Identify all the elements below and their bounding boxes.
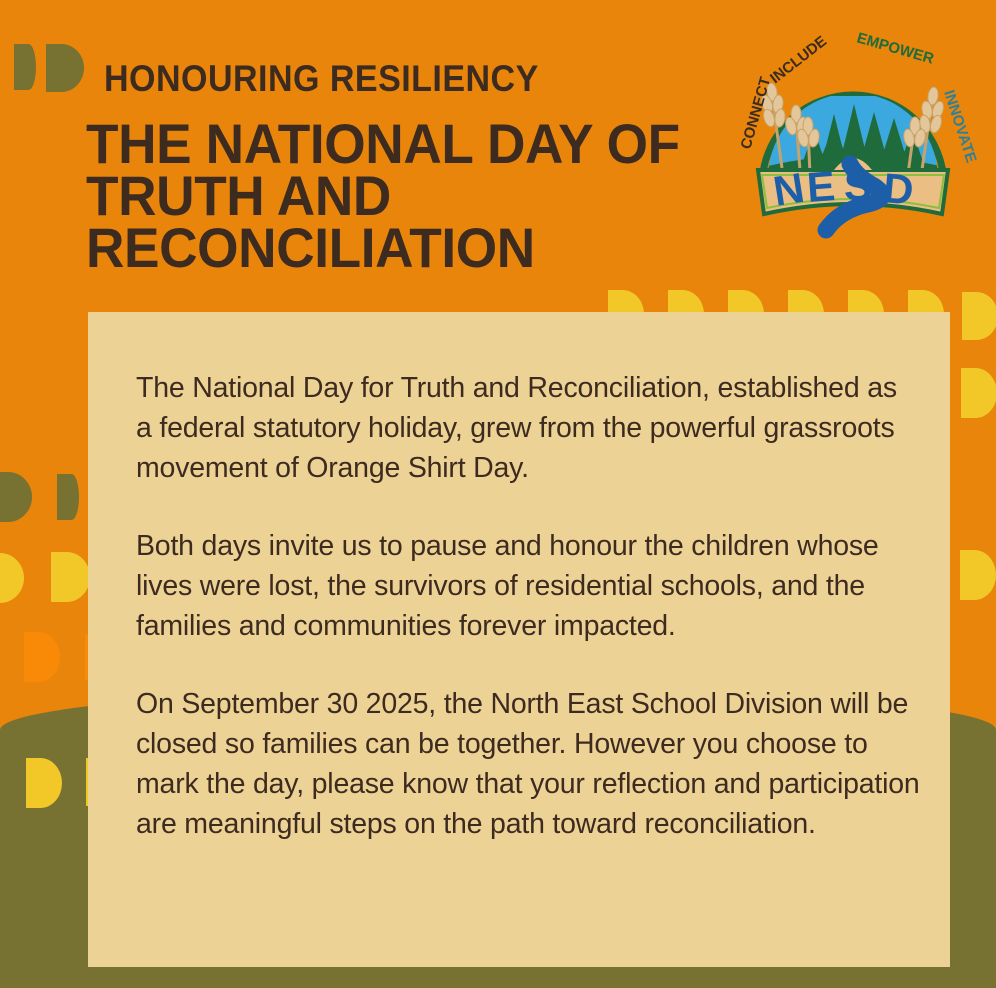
- decorative-shape-yellow-top-7: [962, 292, 996, 340]
- logo-letter-d: D: [881, 164, 915, 213]
- content-card: The National Day for Truth and Reconcili…: [88, 312, 950, 967]
- logo-arc-word-empower: EMPOWER: [855, 30, 936, 68]
- logo-arc-word-include: INCLUDE: [767, 33, 830, 87]
- card-paragraph-1: The National Day for Truth and Reconcili…: [136, 368, 920, 488]
- poster-canvas: HONOURING RESILIENCY THE NATIONAL DAY OF…: [0, 0, 996, 988]
- page-title: THE NATIONAL DAY OF TRUTH AND RECONCILIA…: [86, 118, 694, 274]
- decorative-shape-olive-left-2: [57, 474, 79, 520]
- page-title-line-1: THE NATIONAL DAY OF: [86, 118, 694, 170]
- page-title-line-2: TRUTH AND: [86, 170, 694, 222]
- logo-letter-s: S: [844, 162, 872, 209]
- logo-arc-word-innovate: INNOVATE: [940, 88, 979, 165]
- decorative-shape-yellow-right-1: [961, 368, 996, 418]
- nesd-logo: N E S D CONNECT INCLUDE EMPOWER INNOVATE: [722, 18, 984, 258]
- card-paragraph-3: On September 30 2025, the North East Sch…: [136, 684, 920, 844]
- page-title-line-3: RECONCILIATION: [86, 222, 694, 274]
- card-body-text: The National Day for Truth and Reconcili…: [136, 368, 920, 844]
- page-eyebrow: HONOURING RESILIENCY: [104, 58, 539, 100]
- decorative-shape-olive-bar: [14, 44, 36, 90]
- logo-letter-e: E: [805, 162, 836, 211]
- card-paragraph-2: Both days invite us to pause and honour …: [136, 526, 920, 646]
